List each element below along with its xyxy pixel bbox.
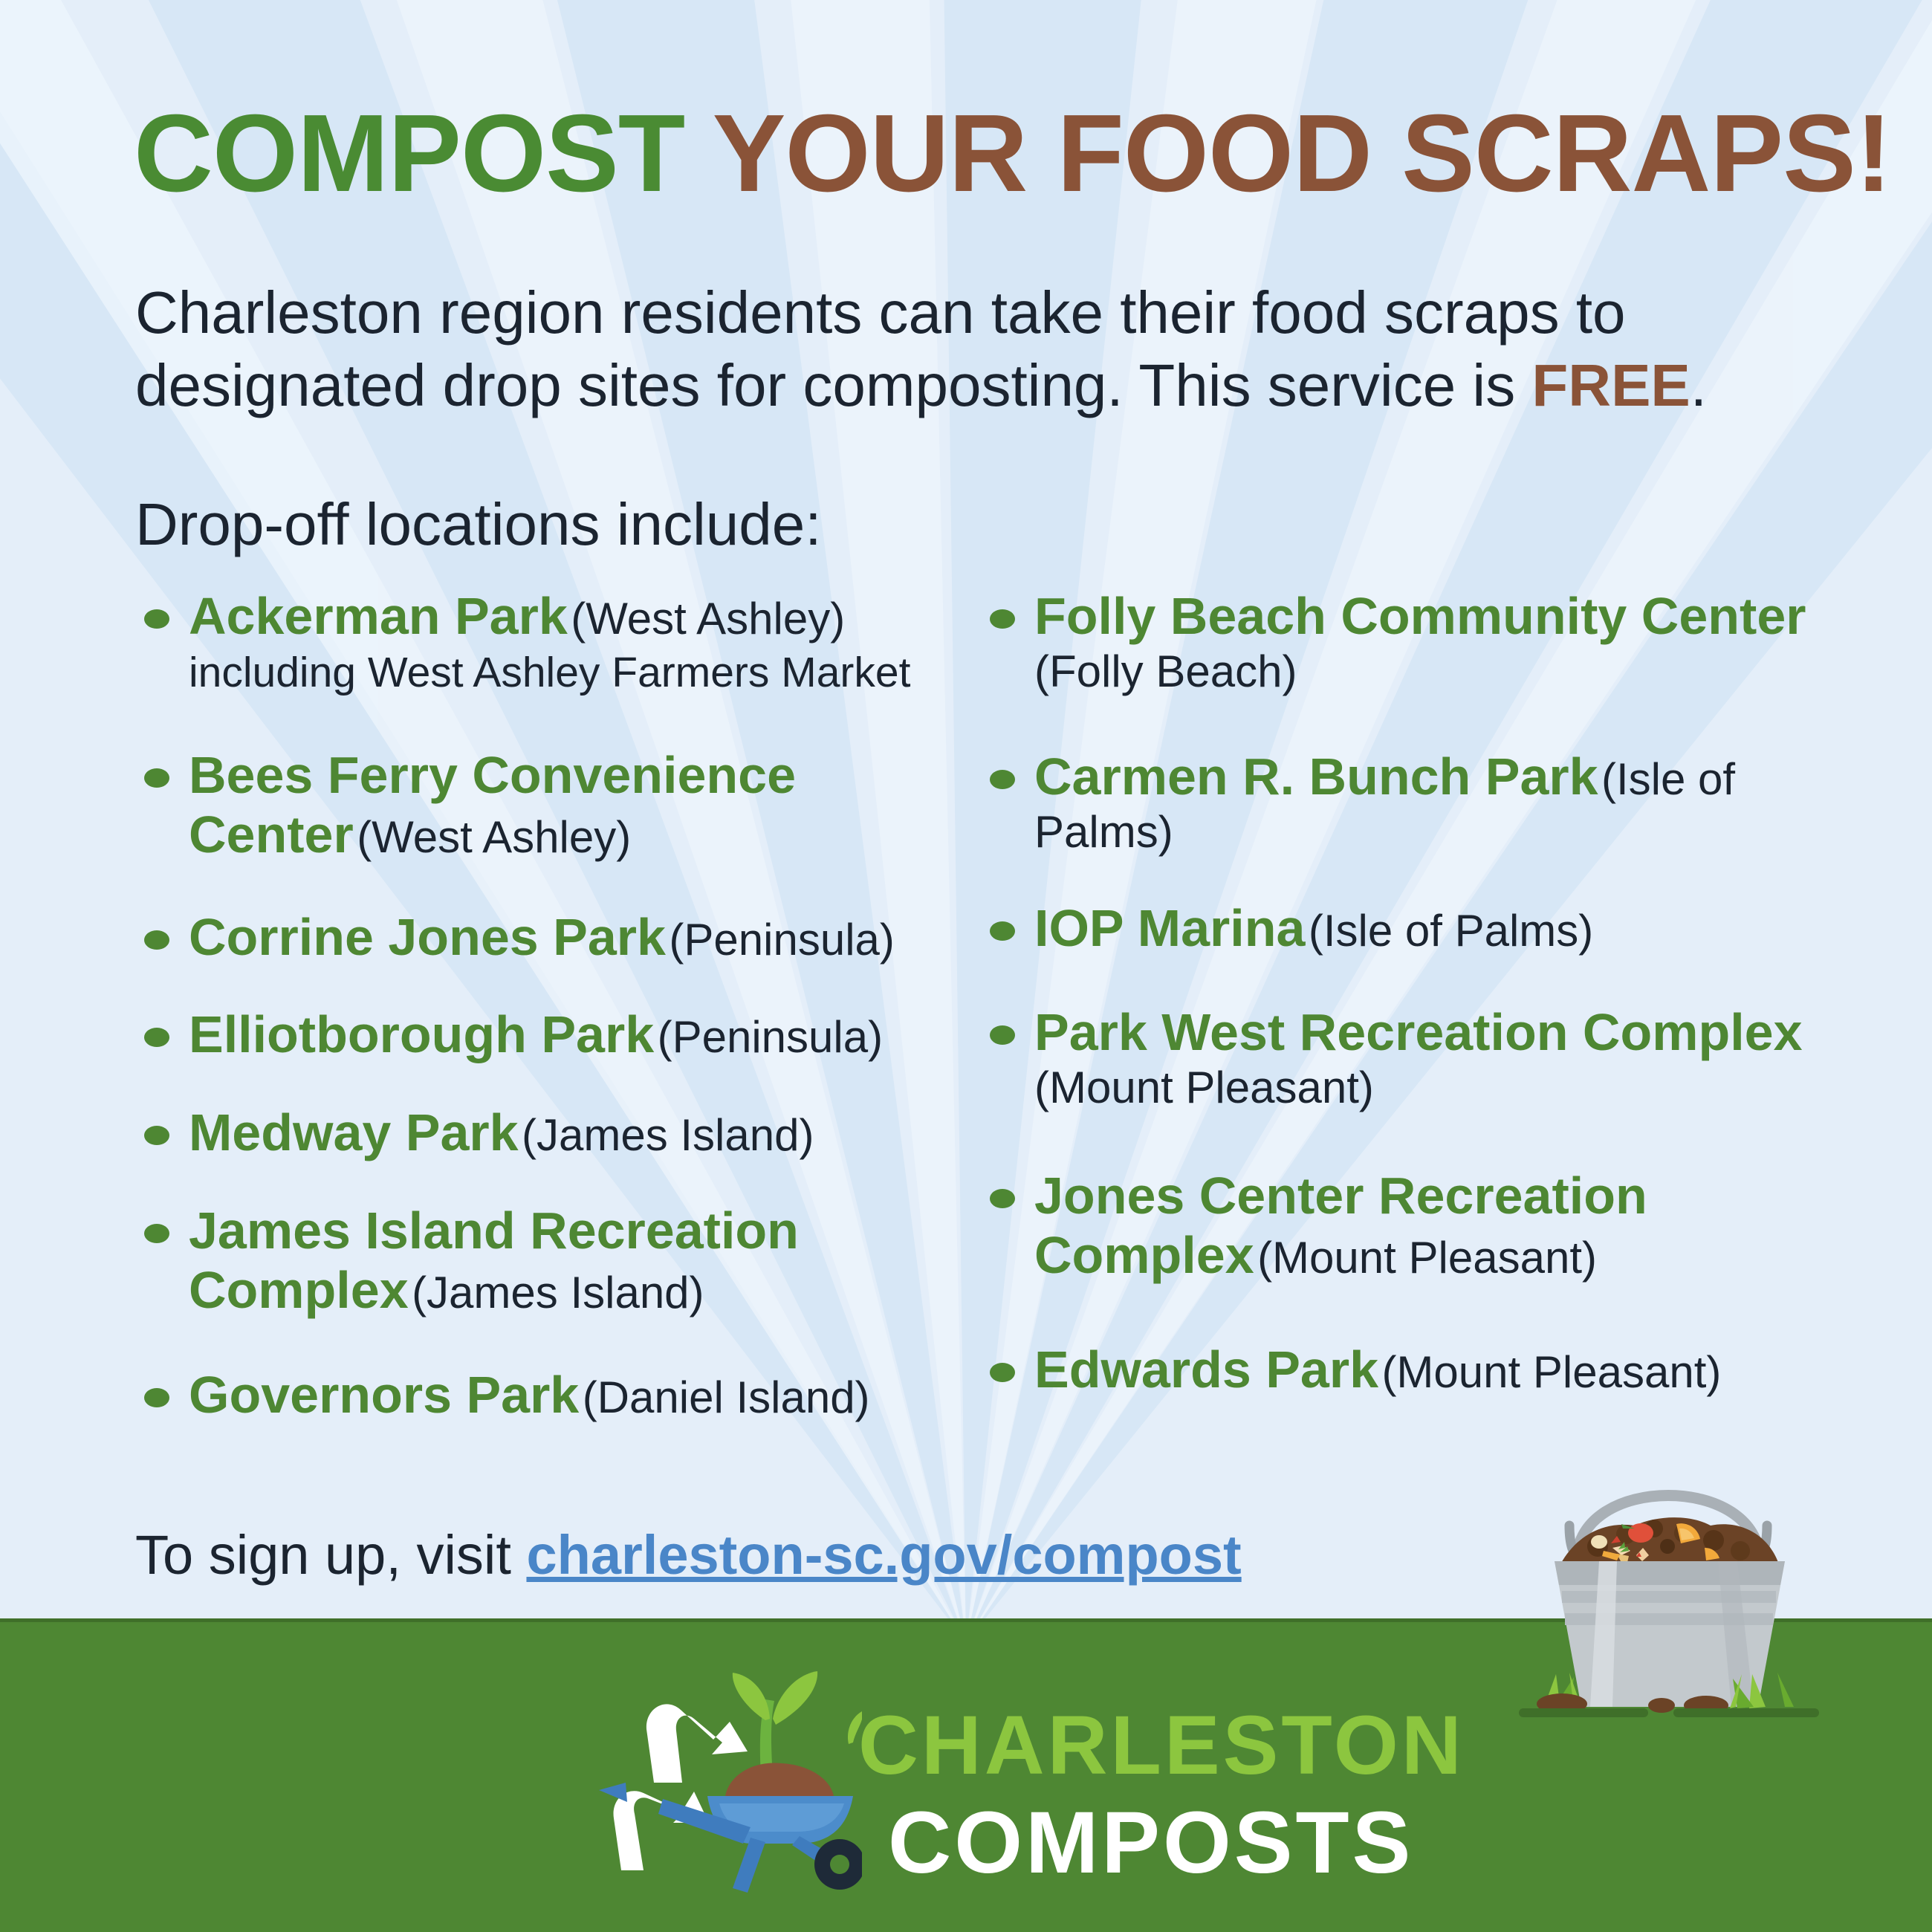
location-name: Medway Park [189, 1103, 519, 1161]
tomato-scrap-icon [1628, 1523, 1653, 1543]
list-item: Ackerman Park (West Ashley) including We… [135, 587, 967, 697]
signup-line: To sign up, visit charleston-sc.gov/comp… [135, 1523, 1242, 1586]
poster-canvas: COMPOST YOUR FOOD SCRAPS! Charleston reg… [0, 0, 1932, 1932]
location-name: Ackerman Park [189, 587, 568, 645]
wheelbarrow-leg-icon [733, 1838, 765, 1893]
location-name: Corrine Jones Park [189, 908, 666, 966]
location-name: Edwards Park [1034, 1341, 1378, 1398]
list-item: Edwards Park (Mount Pleasant) [981, 1341, 1858, 1400]
dropoff-list-right: Folly Beach Community Center (Folly Beac… [981, 587, 1858, 1434]
compost-signup-link[interactable]: charleston-sc.gov/compost [526, 1524, 1241, 1586]
intro-paragraph: Charleston region residents can take the… [135, 276, 1822, 421]
location-area: (Peninsula) [669, 915, 895, 965]
bullet-dot-icon [144, 609, 169, 629]
location-name: Governors Park [189, 1366, 579, 1424]
bullet-dot-icon [990, 770, 1015, 789]
list-item: Bees Ferry Convenience Center (West Ashl… [135, 746, 967, 865]
recycle-arrow-lower-icon [614, 1791, 709, 1870]
charleston-composts-logo: CHARLESTON COMPOSTS [594, 1658, 1338, 1903]
bullet-dot-icon [144, 768, 169, 788]
sprout-leaf-left-icon [733, 1673, 770, 1720]
bullet-dot-icon [990, 1363, 1015, 1382]
list-item: Medway Park (James Island) [135, 1103, 967, 1163]
location-area: (Isle of Palms) [1309, 906, 1593, 956]
sprout-leaf-right-icon [773, 1671, 817, 1725]
location-name: IOP Marina [1034, 899, 1305, 957]
bullet-dot-icon [990, 1189, 1015, 1208]
list-item: Elliotborough Park (Peninsula) [135, 1005, 967, 1065]
location-area: (James Island) [412, 1268, 704, 1317]
title-green-part: COMPOST [134, 92, 684, 215]
location-name: Carmen R. Bunch Park [1034, 748, 1598, 805]
bullet-dot-icon [990, 1025, 1015, 1045]
signup-prefix: To sign up, visit [135, 1524, 526, 1586]
title-brown-part: YOUR FOOD SCRAPS! [713, 92, 1891, 215]
bucket-rim [1555, 1561, 1785, 1585]
wheelbarrow-handle-tip [599, 1783, 627, 1802]
location-area: (Mount Pleasant) [1034, 1063, 1374, 1112]
location-area: (Daniel Island) [583, 1372, 870, 1422]
location-note: including West Ashley Farmers Market [189, 648, 967, 697]
bullet-dot-icon [144, 930, 169, 950]
list-item: Jones Center Recreation Complex (Mount P… [981, 1167, 1858, 1286]
free-emphasis: FREE [1531, 352, 1690, 418]
wheelbarrow-wheel-hub [830, 1855, 849, 1874]
bullet-dot-icon [144, 1126, 169, 1145]
location-area: (Peninsula) [658, 1012, 884, 1062]
list-item: Carmen R. Bunch Park (Isle of Palms) [981, 748, 1858, 858]
logo-text-charleston: CHARLESTON [858, 1704, 1465, 1787]
section-subheading: Drop-off locations include: [135, 490, 821, 559]
location-area: (Mount Pleasant) [1381, 1347, 1721, 1397]
list-item: Park West Recreation Complex (Mount Plea… [981, 1003, 1858, 1113]
location-area: (Folly Beach) [1034, 646, 1297, 696]
list-item: Folly Beach Community Center (Folly Beac… [981, 587, 1858, 697]
bullet-dot-icon [144, 1224, 169, 1243]
compost-bucket-illustration [1508, 1416, 1828, 1728]
list-item: Governors Park (Daniel Island) [135, 1366, 967, 1425]
logo-mark-svg [594, 1665, 862, 1903]
list-item: Corrine Jones Park (Peninsula) [135, 908, 967, 967]
location-area: (Mount Pleasant) [1257, 1233, 1597, 1283]
location-name: Elliotborough Park [189, 1005, 654, 1063]
intro-text-leading: Charleston region residents can take the… [135, 279, 1626, 418]
logo-text-composts: COMPOSTS [888, 1799, 1413, 1887]
bullet-dot-icon [990, 921, 1015, 941]
barrow-soil-icon [725, 1763, 834, 1796]
page-title: COMPOST YOUR FOOD SCRAPS! [134, 99, 1891, 209]
intro-text-trailing: . [1690, 352, 1707, 418]
dropoff-list-left: Ackerman Park (West Ashley) including We… [135, 587, 967, 1459]
list-item: IOP Marina (Isle of Palms) [981, 899, 1858, 959]
list-item: James Island Recreation Complex (James I… [135, 1202, 967, 1320]
ground-line-right [1673, 1708, 1819, 1717]
location-area: (James Island) [522, 1110, 814, 1160]
recycle-arrow-upper-icon [646, 1704, 748, 1783]
bucket-rib-1 [1562, 1591, 1776, 1603]
location-area: (West Ashley) [357, 812, 631, 862]
location-name: Folly Beach Community Center [1034, 587, 1806, 645]
bullet-dot-icon [144, 1028, 169, 1047]
bullet-dot-icon [144, 1388, 169, 1407]
location-area: (West Ashley) [571, 594, 845, 644]
ground-line-left [1519, 1708, 1648, 1717]
mushroom-scrap-icon [1591, 1535, 1607, 1549]
bullet-dot-icon [990, 609, 1015, 629]
poster-content: COMPOST YOUR FOOD SCRAPS! Charleston reg… [0, 0, 1932, 1620]
location-name: Park West Recreation Complex [1034, 1003, 1803, 1061]
